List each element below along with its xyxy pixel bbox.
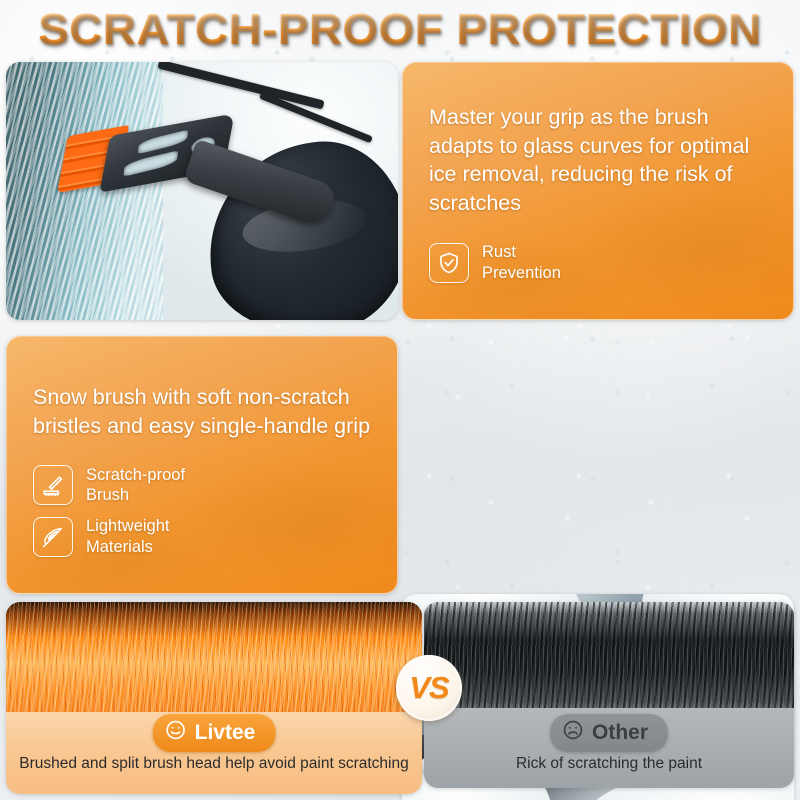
ice-scraper-tool xyxy=(56,124,306,252)
other-badge-label: Other xyxy=(592,721,648,745)
feature-line-1: Rust xyxy=(482,242,561,262)
black-bristles-closeup xyxy=(424,602,794,720)
feature-line-1: Lightweight xyxy=(86,516,169,536)
sad-face-icon xyxy=(562,719,584,747)
livtee-caption: Brushed and split brush head help avoid … xyxy=(6,754,422,773)
brush-card-headline: Snow brush with soft non-scratch bristle… xyxy=(33,383,371,440)
header-banner: SCRATCH-PROOF PROTECTION xyxy=(0,0,800,60)
page-title: SCRATCH-PROOF PROTECTION xyxy=(38,5,761,55)
grip-card-feature-list: Rust Prevention xyxy=(429,231,767,282)
livtee-badge-label: Livtee xyxy=(195,721,256,745)
vs-badge: VS xyxy=(396,655,462,721)
brush-card-feature-list: Scratch-proof Brush Lightweight Material… xyxy=(33,454,371,557)
comparison-panel-other: Other Rick of scratching the paint xyxy=(424,602,794,788)
feature-line-2: Materials xyxy=(86,537,169,557)
feature-lightweight-materials-label: Lightweight Materials xyxy=(86,516,169,556)
scraper-cutout-2 xyxy=(123,150,178,176)
feature-rust-prevention: Rust Prevention xyxy=(429,242,767,282)
brush-feature-card: Snow brush with soft non-scratch bristle… xyxy=(6,336,398,594)
feature-lightweight-materials: Lightweight Materials xyxy=(33,516,371,556)
livtee-badge: Livtee xyxy=(153,714,276,752)
grip-card-headline: Master your grip as the brush adapts to … xyxy=(429,103,767,217)
other-badge: Other xyxy=(550,714,668,752)
grip-feature-card: Master your grip as the brush adapts to … xyxy=(402,62,794,320)
scraper-cutout-1 xyxy=(138,130,188,154)
feature-line-2: Brush xyxy=(86,485,185,505)
smiley-face-icon xyxy=(165,719,187,747)
other-caption: Rick of scratching the paint xyxy=(424,754,794,773)
feather-icon xyxy=(33,517,73,557)
vs-label: VS xyxy=(409,670,448,706)
feature-scratch-proof-brush-label: Scratch-proof Brush xyxy=(86,465,185,505)
orange-bristles-closeup xyxy=(6,602,422,720)
feature-scratch-proof-brush: Scratch-proof Brush xyxy=(33,465,371,505)
shield-check-icon xyxy=(429,243,469,283)
comparison-panel-livtee: Livtee Brushed and split brush head help… xyxy=(6,602,422,794)
ice-scraper-photo-panel xyxy=(6,62,398,320)
feature-line-2: Prevention xyxy=(482,263,561,283)
feature-rust-prevention-label: Rust Prevention xyxy=(482,242,561,282)
brush-icon xyxy=(33,465,73,505)
feature-line-1: Scratch-proof xyxy=(86,465,185,485)
